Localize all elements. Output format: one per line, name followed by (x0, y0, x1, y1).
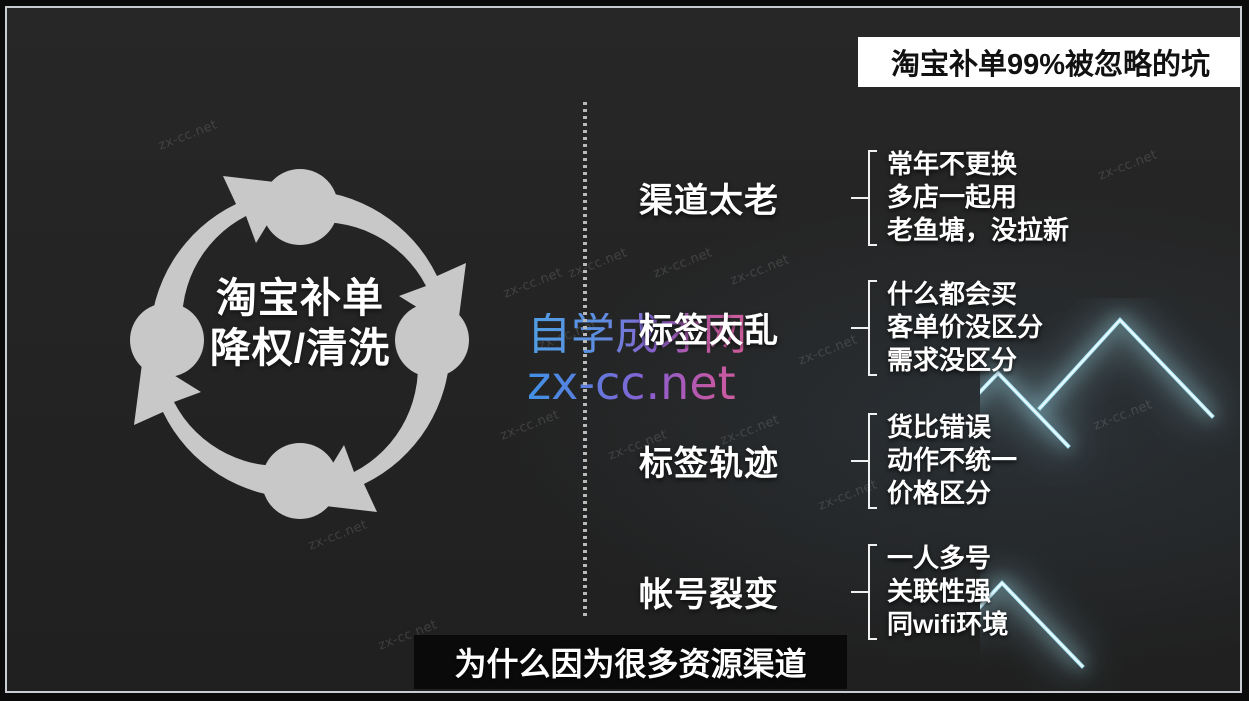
issue-group-1-bullets: 常年不更换 多店一起用 老鱼塘，没拉新 (887, 148, 1069, 247)
issue-group-3-bullets: 货比错误 动作不统一 价格区分 (887, 411, 1017, 510)
bullet-item: 同wifi环境 (887, 608, 1008, 641)
bullet-item: 老鱼塘，没拉新 (887, 214, 1069, 247)
dotted-divider (583, 102, 587, 618)
cycle-label-line1: 淘宝补单 (110, 273, 490, 323)
issue-group-3: 标签轨迹 货比错误 动作不统一 价格区分 (639, 411, 1017, 510)
issue-group-2-title: 标签太乱 (639, 303, 851, 352)
slide-frame: zx-cc.net zx-cc.net zx-cc.net zx-cc.net … (5, 6, 1242, 693)
bullet-item: 多店一起用 (887, 181, 1069, 214)
bracket-icon (851, 280, 877, 376)
bullet-item: 价格区分 (887, 477, 1017, 510)
title-banner: 淘宝补单99%被忽略的坑 (858, 37, 1242, 87)
page-title: 淘宝补单99%被忽略的坑 (891, 41, 1210, 83)
bullet-item: 什么都会买 (887, 278, 1043, 311)
cycle-center-label: 淘宝补单 降权/清洗 (110, 273, 490, 373)
issue-group-4-title: 帐号裂变 (639, 567, 851, 616)
bullet-item: 动作不统一 (887, 444, 1017, 477)
bracket-icon (851, 544, 877, 640)
subtitle-caption-text: 为什么因为很多资源渠道 (454, 639, 806, 685)
issue-group-3-title: 标签轨迹 (639, 436, 851, 485)
bracket-icon (851, 150, 877, 246)
bullet-item: 一人多号 (887, 542, 1008, 575)
subtitle-caption-bar: 为什么因为很多资源渠道 (414, 635, 847, 689)
bracket-icon (851, 413, 877, 509)
issue-group-2: 标签太乱 什么都会买 客单价没区分 需求没区分 (639, 278, 1043, 377)
slide-canvas: zx-cc.net zx-cc.net zx-cc.net zx-cc.net … (0, 0, 1249, 701)
issue-group-1-title: 渠道太老 (639, 173, 851, 222)
cycle-label-line2: 降权/清洗 (110, 323, 490, 373)
issue-group-2-bullets: 什么都会买 客单价没区分 需求没区分 (887, 278, 1043, 377)
issue-group-4-bullets: 一人多号 关联性强 同wifi环境 (887, 542, 1008, 641)
issue-group-4: 帐号裂变 一人多号 关联性强 同wifi环境 (639, 542, 1008, 641)
issue-group-1: 渠道太老 常年不更换 多店一起用 老鱼塘，没拉新 (639, 148, 1069, 247)
bullet-item: 常年不更换 (887, 148, 1069, 181)
bullet-item: 货比错误 (887, 411, 1017, 444)
bullet-item: 关联性强 (887, 575, 1008, 608)
bullet-item: 客单价没区分 (887, 311, 1043, 344)
bullet-item: 需求没区分 (887, 344, 1043, 377)
